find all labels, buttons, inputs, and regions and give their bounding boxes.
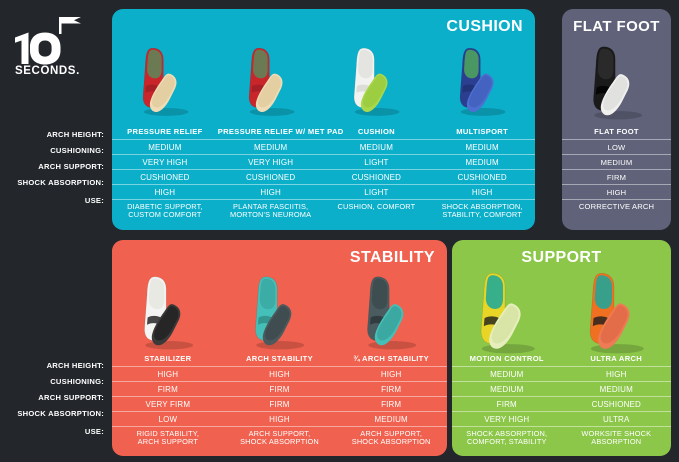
spec-value-arch-height-0: MEDIUM <box>452 367 562 381</box>
svg-text:SECONDS.: SECONDS. <box>15 65 80 77</box>
spec-header-row: PRESSURE RELIEFPRESSURE RELIEF W/ MET PA… <box>112 127 535 139</box>
insole-art-row-flat-foot <box>562 35 671 127</box>
spec-value-use-2: ARCH SUPPORT,SHOCK ABSORPTION <box>335 427 447 449</box>
spec-value-arch-height-2: MEDIUM <box>324 140 430 154</box>
spec-value-arch-support-2: FIRM <box>335 397 447 411</box>
product-name-1: ULTRA ARCH <box>562 354 672 366</box>
row-label-arch-height-2: ARCH HEIGHT: <box>0 361 104 370</box>
insole-illustration <box>137 35 193 125</box>
insole-illustration <box>249 268 309 354</box>
product-name-0: MOTION CONTROL <box>452 354 562 366</box>
insole-illustration <box>138 268 198 354</box>
insole-illustration <box>454 35 510 125</box>
spec-header-row: STABILIZERARCH STABILITY¾ ARCH STABILITY <box>112 354 447 366</box>
spec-value-arch-support-2: CUSHIONED <box>324 170 430 184</box>
insole-illustration <box>348 35 404 125</box>
spec-table-flat-foot: FLAT FOOTLOWMEDIUMFIRMHIGHCORRECTIVE ARC… <box>562 127 671 214</box>
spec-value-use-1: ARCH SUPPORT,SHOCK ABSORPTION <box>224 427 336 449</box>
spec-row-shock-absorption: HIGHHIGHLIGHTHIGH <box>112 184 535 199</box>
spec-value-arch-height-3: MEDIUM <box>429 140 535 154</box>
spec-value-shock-absorption-0: HIGH <box>112 185 218 199</box>
spec-value-cushioning-1: VERY HIGH <box>218 155 324 169</box>
row-label-arch-support-2: ARCH SUPPORT: <box>0 393 104 402</box>
row-label-arch-support: ARCH SUPPORT: <box>0 162 104 171</box>
spec-value-shock-absorption-1: HIGH <box>218 185 324 199</box>
spec-value-use-0: RIGID STABILITY,ARCH SUPPORT <box>112 427 224 449</box>
spec-value-cushioning-1: MEDIUM <box>562 382 672 396</box>
spec-value-arch-support-0: FIRM <box>452 397 562 411</box>
insole-image-flat-foot <box>562 35 671 127</box>
spec-value-cushioning-3: MEDIUM <box>429 155 535 169</box>
product-name-3: MULTISPORT <box>429 127 535 139</box>
spec-row-arch-support: FIRMCUSHIONED <box>452 396 671 411</box>
row-label-cushioning-2: CUSHIONING: <box>0 377 104 386</box>
spec-value-arch-height-0: MEDIUM <box>112 140 218 154</box>
spec-row-arch-support: FIRM <box>562 169 671 184</box>
panel-title-stability: STABILITY <box>350 249 435 267</box>
spec-row-cushioning: MEDIUMMEDIUM <box>452 381 671 396</box>
spec-row-cushioning: VERY HIGHVERY HIGHLIGHTMEDIUM <box>112 154 535 169</box>
spec-value-shock-absorption-2: MEDIUM <box>335 412 447 426</box>
panel-title-support: SUPPORT <box>452 249 671 267</box>
row-label-cushioning: CUSHIONING: <box>0 146 104 155</box>
spec-row-shock-absorption: HIGH <box>562 184 671 199</box>
spec-value-cushioning-0: FIRM <box>112 382 224 396</box>
spec-row-arch-height: HIGHHIGHHIGH <box>112 366 447 381</box>
spec-header-row: FLAT FOOT <box>562 127 671 139</box>
row-label-shock-absorption: SHOCK ABSORPTION: <box>0 178 104 187</box>
insole-illustration <box>243 35 299 125</box>
product-name-2: ¾ ARCH STABILITY <box>335 354 447 366</box>
spec-row-cushioning: FIRMFIRMFIRM <box>112 381 447 396</box>
insole-image-arch-stability <box>224 266 336 356</box>
spec-value-arch-support-3: CUSHIONED <box>429 170 535 184</box>
spec-value-cushioning-2: FIRM <box>335 382 447 396</box>
spec-value-use-2: CUSHION, COMFORT <box>324 200 430 222</box>
spec-value-cushioning-0: MEDIUM <box>562 155 671 169</box>
spec-value-arch-support-1: CUSHIONED <box>562 397 672 411</box>
spec-value-shock-absorption-1: HIGH <box>224 412 336 426</box>
insole-illustration <box>473 268 541 354</box>
insole-image-pressure-relief-w-met-pad <box>218 33 324 127</box>
spec-value-cushioning-2: LIGHT <box>324 155 430 169</box>
insole-image-multisport <box>429 33 535 127</box>
insole-art-row-cushion <box>112 33 535 127</box>
spec-value-use-1: PLANTAR FASCIITIS,MORTON'S NEUROMA <box>218 200 324 222</box>
spec-row-arch-height: LOW <box>562 139 671 154</box>
spec-value-use-0: SHOCK ABSORPTION,COMFORT, STABILITY <box>452 427 562 449</box>
product-name-0: FLAT FOOT <box>562 127 671 139</box>
row-label-use-2: USE: <box>0 427 104 436</box>
spec-row-arch-height: MEDIUMMEDIUMMEDIUMMEDIUM <box>112 139 535 154</box>
spec-table-support: MOTION CONTROLULTRA ARCHMEDIUMHIGHMEDIUM… <box>452 354 671 449</box>
spec-value-shock-absorption-3: HIGH <box>429 185 535 199</box>
panel-stability: STABILITY <box>112 240 447 456</box>
spec-value-arch-support-1: CUSHIONED <box>218 170 324 184</box>
logo-mark: SECONDS. <box>12 14 98 78</box>
spec-value-arch-height-0: HIGH <box>112 367 224 381</box>
insole-illustration <box>587 37 647 125</box>
spec-row-arch-height: MEDIUMHIGH <box>452 366 671 381</box>
row-label-arch-height: ARCH HEIGHT: <box>0 130 104 139</box>
spec-value-use-1: WORKSITE SHOCKABSORPTION <box>562 427 672 449</box>
panel-support: SUPPORT <box>452 240 671 456</box>
spec-value-arch-height-1: HIGH <box>224 367 336 381</box>
product-name-2: CUSHION <box>324 127 430 139</box>
panel-flat-foot: FLAT FOOT FLAT FOOTLOWMEDIUMFIRMHIGHCORR… <box>562 9 671 230</box>
spec-row-use: SHOCK ABSORPTION,COMFORT, STABILITYWORKS… <box>452 426 671 449</box>
brand-logo: SECONDS. <box>12 14 98 78</box>
spec-row-shock-absorption: VERY HIGHULTRA <box>452 411 671 426</box>
spec-row-shock-absorption: LOWHIGHMEDIUM <box>112 411 447 426</box>
panel-title-flat-foot: FLAT FOOT <box>562 18 671 35</box>
spec-value-arch-support-0: CUSHIONED <box>112 170 218 184</box>
spec-value-cushioning-1: FIRM <box>224 382 336 396</box>
product-name-1: PRESSURE RELIEF W/ MET PAD <box>218 127 324 139</box>
spec-value-arch-height-1: HIGH <box>562 367 672 381</box>
spec-value-shock-absorption-0: HIGH <box>562 185 671 199</box>
infographic-canvas: SECONDS. ARCH HEIGHT: CUSHIONING: ARCH S… <box>0 0 679 462</box>
insole-image-pressure-relief <box>112 33 218 127</box>
panel-cushion: CUSHION <box>112 9 535 230</box>
spec-value-use-0: CORRECTIVE ARCH <box>562 200 671 214</box>
spec-value-arch-height-1: MEDIUM <box>218 140 324 154</box>
row-label-shock-absorption-2: SHOCK ABSORPTION: <box>0 409 104 418</box>
product-name-1: ARCH STABILITY <box>224 354 336 366</box>
spec-row-cushioning: MEDIUM <box>562 154 671 169</box>
spec-value-arch-height-0: LOW <box>562 140 671 154</box>
spec-table-cushion: PRESSURE RELIEFPRESSURE RELIEF W/ MET PA… <box>112 127 535 222</box>
spec-value-arch-support-1: FIRM <box>224 397 336 411</box>
spec-row-use: CORRECTIVE ARCH <box>562 199 671 214</box>
spec-row-use: RIGID STABILITY,ARCH SUPPORTARCH SUPPORT… <box>112 426 447 449</box>
spec-row-arch-support: VERY FIRMFIRMFIRM <box>112 396 447 411</box>
row-label-use: USE: <box>0 196 104 205</box>
spec-value-use-3: SHOCK ABSORPTION,STABILITY, COMFORT <box>429 200 535 222</box>
spec-value-shock-absorption-1: ULTRA <box>562 412 672 426</box>
product-name-0: STABILIZER <box>112 354 224 366</box>
insole-image-arch-stability <box>335 266 447 356</box>
spec-table-stability: STABILIZERARCH STABILITY¾ ARCH STABILITY… <box>112 354 447 449</box>
insole-image-stabilizer <box>112 266 224 356</box>
insole-image-motion-control <box>452 266 562 356</box>
insole-illustration <box>582 268 650 354</box>
spec-value-cushioning-0: VERY HIGH <box>112 155 218 169</box>
spec-value-use-0: DIABETIC SUPPORT,CUSTOM COMFORT <box>112 200 218 222</box>
insole-image-ultra-arch <box>562 266 672 356</box>
spec-value-cushioning-0: MEDIUM <box>452 382 562 396</box>
spec-value-shock-absorption-2: LIGHT <box>324 185 430 199</box>
spec-value-arch-height-2: HIGH <box>335 367 447 381</box>
insole-image-cushion <box>324 33 430 127</box>
insole-art-row-stability <box>112 266 447 356</box>
spec-value-arch-support-0: VERY FIRM <box>112 397 224 411</box>
insole-illustration <box>361 268 421 354</box>
spec-value-shock-absorption-0: LOW <box>112 412 224 426</box>
spec-value-shock-absorption-0: VERY HIGH <box>452 412 562 426</box>
product-name-0: PRESSURE RELIEF <box>112 127 218 139</box>
spec-row-arch-support: CUSHIONEDCUSHIONEDCUSHIONEDCUSHIONED <box>112 169 535 184</box>
insole-art-row-support <box>452 266 671 356</box>
spec-header-row: MOTION CONTROLULTRA ARCH <box>452 354 671 366</box>
spec-value-arch-support-0: FIRM <box>562 170 671 184</box>
spec-row-use: DIABETIC SUPPORT,CUSTOM COMFORTPLANTAR F… <box>112 199 535 222</box>
